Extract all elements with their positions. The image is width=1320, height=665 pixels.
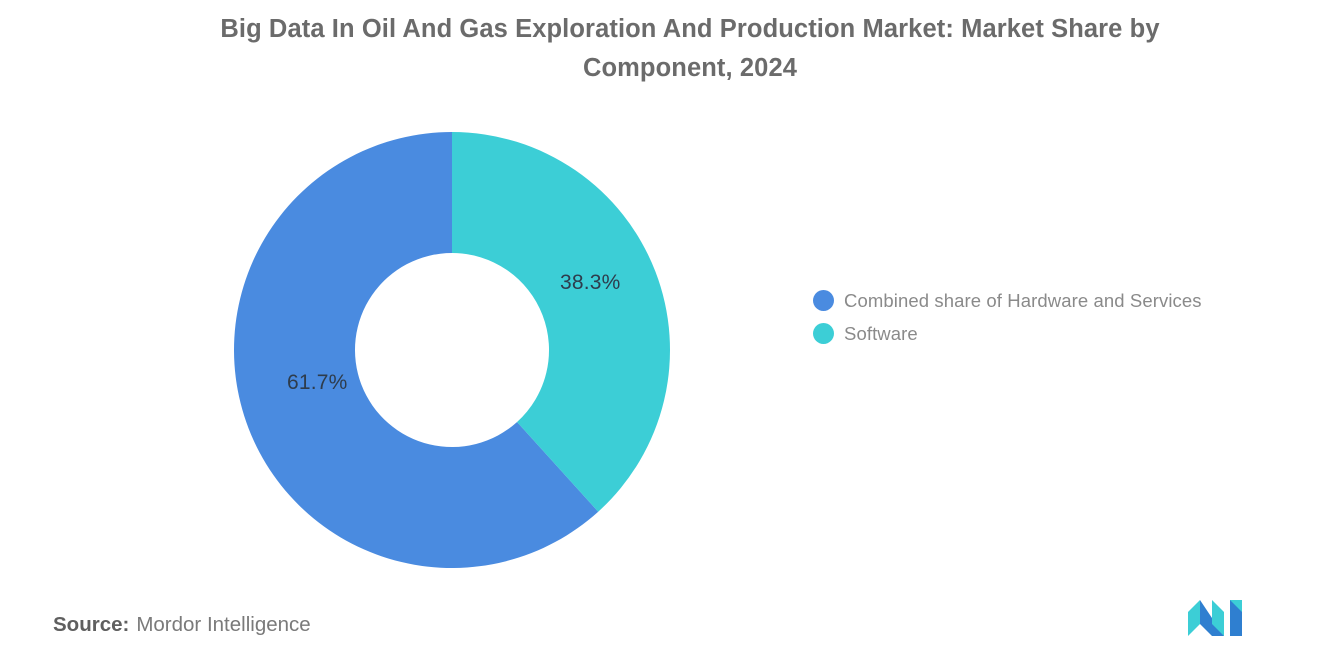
chart-page: Big Data In Oil And Gas Exploration And …	[0, 0, 1320, 665]
mordor-intelligence-logo-icon	[1186, 598, 1252, 638]
donut-chart-svg	[234, 132, 670, 568]
chart-legend: Combined share of Hardware and Services …	[813, 284, 1283, 350]
legend-item-software[interactable]: Software	[813, 317, 1283, 350]
donut-chart	[234, 132, 670, 568]
slice-value-label-software: 38.3%	[560, 271, 621, 295]
source-label: Source:	[53, 613, 129, 636]
source-attribution: Source:Mordor Intelligence	[53, 613, 311, 637]
legend-item-hardware-services[interactable]: Combined share of Hardware and Services	[813, 284, 1283, 317]
slice-value-label-hardware-services: 61.7%	[287, 371, 348, 395]
legend-label-software: Software	[844, 323, 918, 345]
legend-swatch-icon-software	[813, 323, 834, 344]
logo-svg	[1186, 598, 1252, 638]
legend-label-hardware-services: Combined share of Hardware and Services	[844, 290, 1202, 312]
source-value: Mordor Intelligence	[136, 613, 310, 636]
legend-swatch-icon-hardware-services	[813, 290, 834, 311]
page-title: Big Data In Oil And Gas Exploration And …	[150, 10, 1230, 88]
